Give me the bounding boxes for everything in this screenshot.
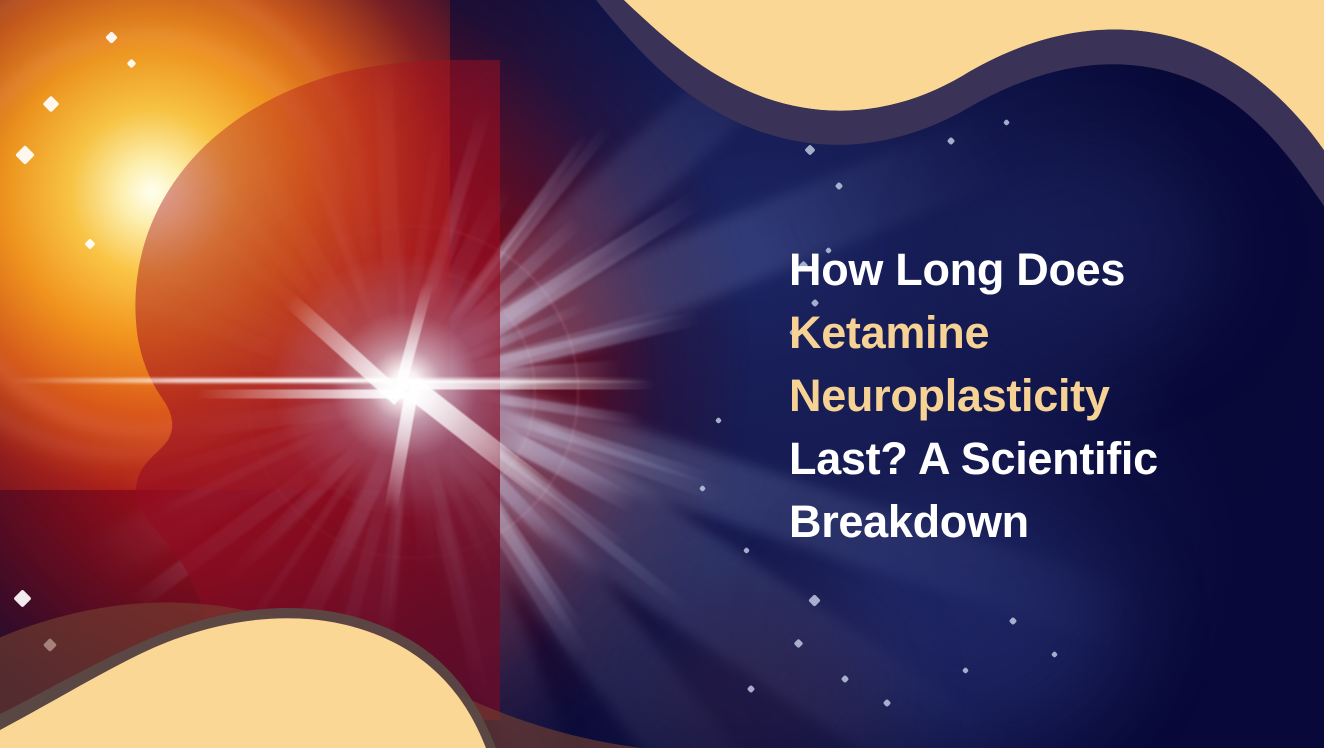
particle-diamond — [209, 687, 219, 697]
article-hero-banner: How Long Does Ketamine Neuroplasticity L… — [0, 0, 1324, 748]
particle-diamond — [110, 678, 121, 689]
page-title: How Long Does Ketamine Neuroplasticity L… — [789, 238, 1259, 553]
core-spike — [195, 390, 405, 399]
title-line-2: Ketamine — [789, 301, 1259, 364]
title-line-1: How Long Does — [789, 238, 1259, 301]
particle-diamond — [778, 87, 788, 97]
particle-diamond — [317, 699, 325, 707]
particle-diamond — [771, 93, 778, 100]
particle-diamond — [904, 59, 912, 67]
particle-diamond — [837, 121, 845, 129]
title-line-3: Neuroplasticity — [789, 364, 1259, 427]
lens-flare-streak — [10, 378, 650, 383]
title-line-4: Last? A Scientific — [789, 427, 1259, 490]
title-line-5: Breakdown — [789, 490, 1259, 553]
